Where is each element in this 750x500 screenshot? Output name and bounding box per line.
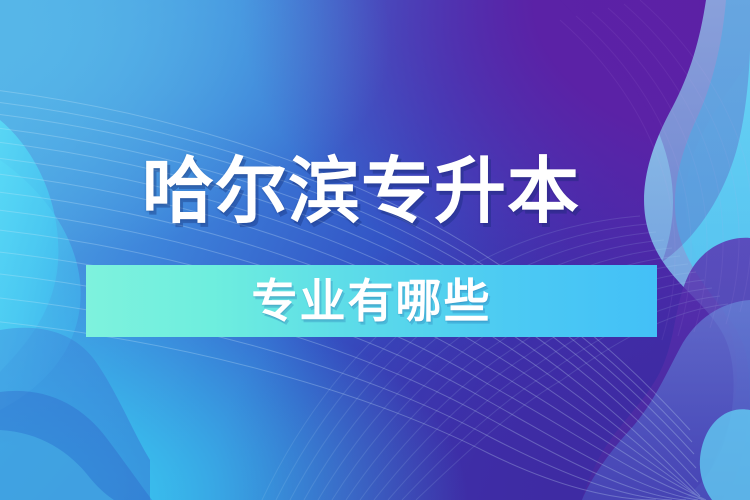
- subtitle-highlight-bar: 专业有哪些: [86, 265, 657, 337]
- banner-subtitle: 专业有哪些: [252, 278, 492, 324]
- banner-root: 哈尔滨专升本 专业有哪些: [0, 0, 750, 500]
- arc-line-texture-fan: [0, 0, 750, 500]
- banner-title: 哈尔滨专升本: [142, 156, 580, 228]
